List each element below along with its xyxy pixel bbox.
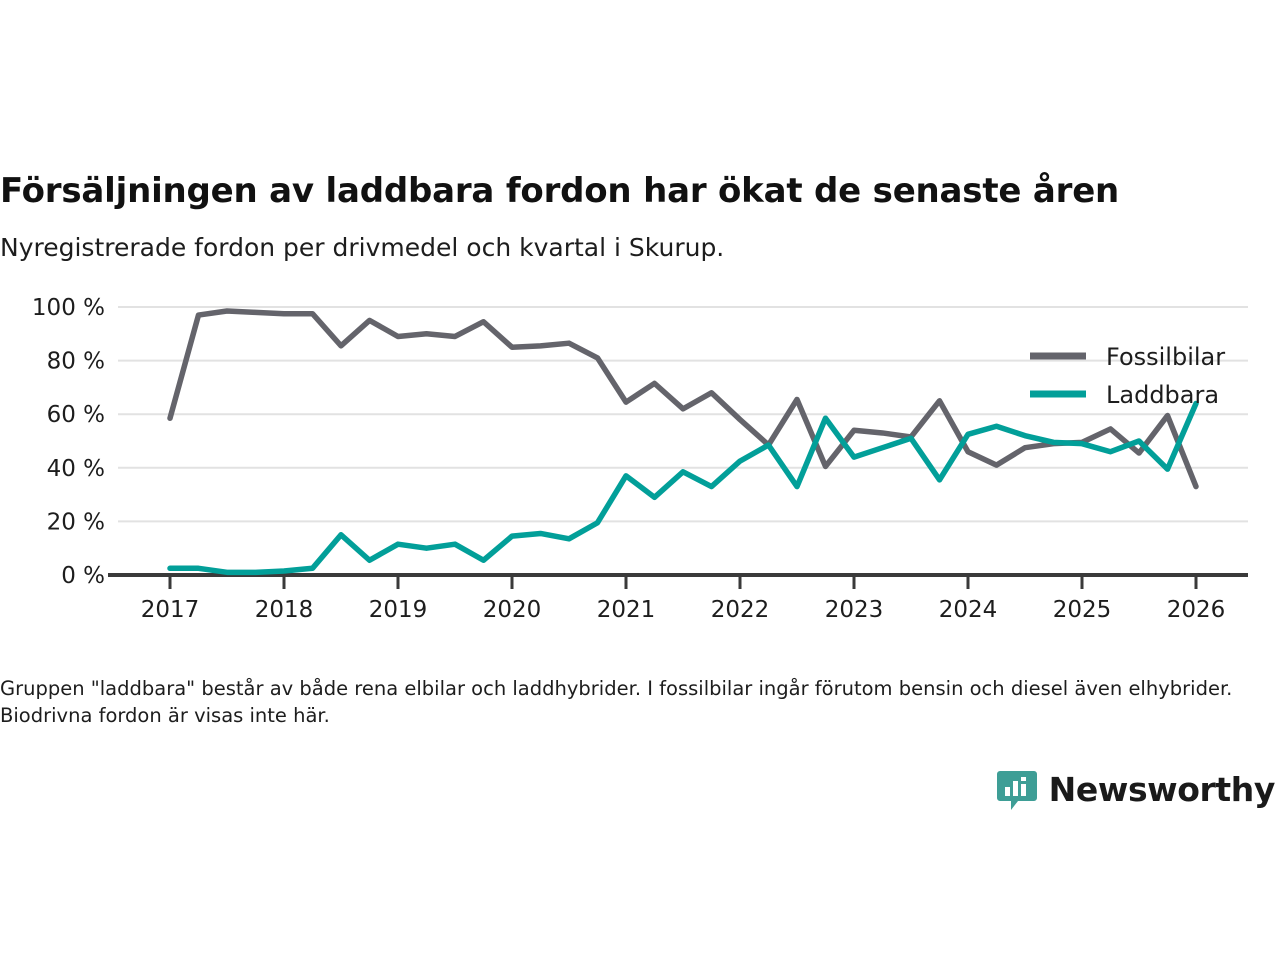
page-subtitle: Nyregistrerade fordon per drivmedel och … [0, 232, 1270, 264]
series-line-laddbara [170, 403, 1196, 572]
y-tick-label: 0 % [61, 563, 105, 589]
x-tick-label: 2020 [483, 597, 542, 623]
x-tick-label: 2018 [255, 597, 314, 623]
chart-container: 0 %20 %40 %60 %80 %100 % 201720182019202… [0, 288, 1280, 628]
y-tick-label: 60 % [47, 402, 105, 428]
x-tick-label: 2023 [825, 597, 884, 623]
gridlines [118, 307, 1248, 521]
x-tick-label: 2017 [141, 597, 200, 623]
chart-legend: FossilbilarLaddbara [1030, 343, 1225, 409]
brand-name: Newsworthy [1049, 770, 1275, 809]
x-axis-tick-labels: 2017201820192020202120222023202420252026 [141, 597, 1226, 623]
page-title: Försäljningen av laddbara fordon har öka… [0, 171, 1270, 211]
chart-page: Försäljningen av laddbara fordon har öka… [0, 0, 1280, 960]
x-axis [108, 575, 1248, 589]
x-tick-label: 2025 [1053, 597, 1112, 623]
chart-footnote: Gruppen "laddbara" består av både rena e… [0, 675, 1248, 729]
x-tick-label: 2022 [711, 597, 770, 623]
newsworthy-logo[interactable]: Newsworthy [996, 768, 1275, 810]
legend-label[interactable]: Laddbara [1106, 381, 1219, 409]
x-tick-label: 2024 [939, 597, 998, 623]
y-tick-label: 20 % [47, 509, 105, 535]
legend-label[interactable]: Fossilbilar [1106, 343, 1225, 371]
y-tick-label: 40 % [47, 456, 105, 482]
y-axis-tick-labels: 0 %20 %40 %60 %80 %100 % [32, 295, 105, 589]
series-line-fossilbilar [170, 311, 1196, 487]
x-tick-label: 2019 [369, 597, 428, 623]
x-tick-label: 2021 [597, 597, 656, 623]
data-series-group [170, 311, 1196, 572]
x-tick-label: 2026 [1167, 597, 1226, 623]
y-tick-label: 100 % [32, 295, 105, 321]
bar-chart-bubble-icon [996, 768, 1038, 810]
line-chart: 0 %20 %40 %60 %80 %100 % 201720182019202… [0, 288, 1280, 628]
y-tick-label: 80 % [47, 349, 105, 375]
